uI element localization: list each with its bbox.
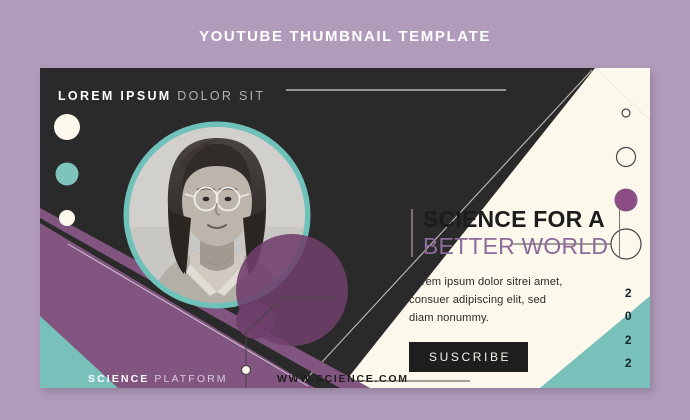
thumbnail-card: LOREM IPSUM DOLOR SIT SCIENCE FOR A BETT… [40,68,650,388]
page-title: YOUTUBE THUMBNAIL TEMPLATE [0,28,690,45]
website-url: WWW.SCIENCE.COM [277,373,409,385]
accent-circle-small [236,301,274,339]
headline: SCIENCE FOR A BETTER WORLD [409,206,620,260]
kicker-light: DOLOR SIT [177,89,265,103]
brand-lockup: SCIENCE PLATFORM [88,373,228,385]
body-copy: Lorem ipsum dolor sitrei amet, consuer a… [409,273,569,327]
year-digit-1: 2 [625,282,632,305]
headline-line-1: SCIENCE FOR A [423,206,608,233]
headline-line-2: BETTER WORLD [423,233,608,260]
dot-cream-top [54,114,80,140]
dot-cream-bottom [59,210,75,226]
year-digit-2: 0 [625,305,632,328]
brand-light: PLATFORM [154,373,227,385]
brand-strong: SCIENCE [88,373,149,385]
kicker: LOREM IPSUM DOLOR SIT [58,89,265,103]
year-digit-3: 2 [625,329,632,352]
elbow-endpoint [242,366,251,375]
year-stack: 2 0 2 2 [625,282,632,376]
kicker-strong: LOREM IPSUM [58,89,172,103]
year-digit-4: 2 [625,352,632,375]
copy-block: SCIENCE FOR A BETTER WORLD Lorem ipsum d… [409,206,624,372]
dot-teal [56,163,79,186]
subscribe-button[interactable]: SUSCRIBE [409,342,528,372]
